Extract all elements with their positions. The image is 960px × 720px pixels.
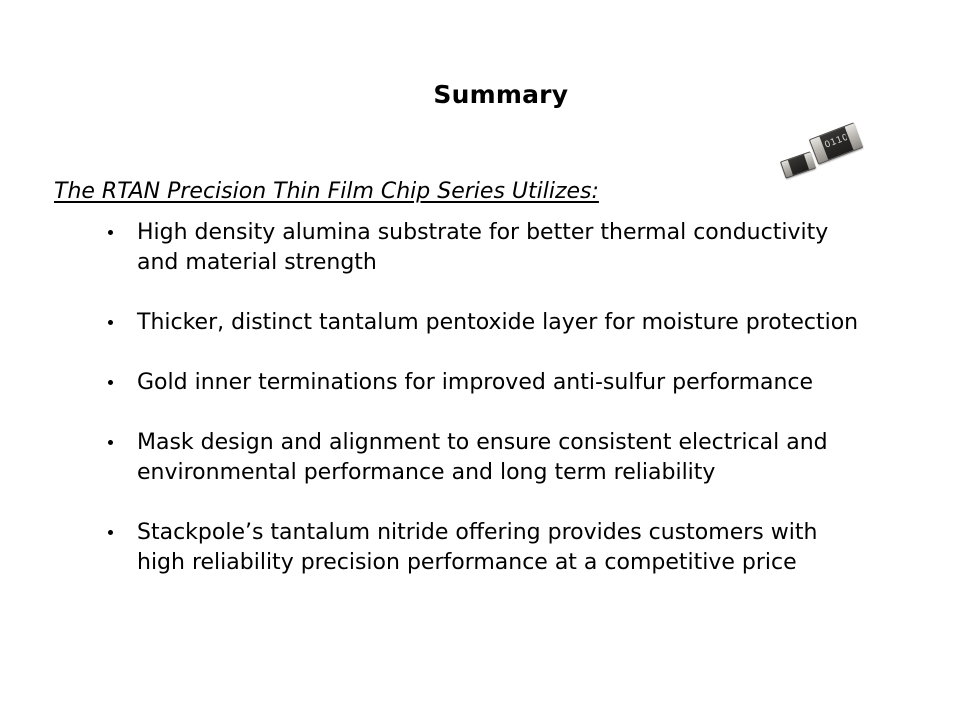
bullet-dot-icon: [108, 230, 113, 235]
list-item: Stackpole’s tantalum nitride offering pr…: [52, 518, 932, 578]
list-item: High density alumina substrate for bette…: [52, 218, 932, 278]
bullet-dot-icon: [108, 440, 113, 445]
lead-in-line: The RTAN Precision Thin Film Chip Series…: [52, 178, 932, 206]
bullet-dot-icon: [108, 530, 113, 535]
chip-resistor-large: 0110: [809, 122, 863, 164]
list-item: Mask design and alignment to ensure cons…: [52, 428, 932, 488]
slide-canvas: Summary 0110 The RTAN Precision Thin Fil…: [0, 0, 960, 720]
bullet-list: High density alumina substrate for bette…: [52, 218, 932, 578]
chip-termination-right: [844, 123, 862, 150]
chip-termination-left: [781, 160, 793, 177]
chip-termination-right: [803, 152, 815, 169]
lead-in-text: The RTAN Precision Thin Film Chip Series…: [52, 178, 601, 206]
body-content: The RTAN Precision Thin Film Chip Series…: [52, 178, 932, 578]
list-item: Thicker, distinct tantalum pentoxide lay…: [52, 308, 932, 338]
list-item-text: Mask design and alignment to ensure cons…: [137, 428, 932, 488]
chip-resistor-small: [780, 151, 816, 178]
list-item: Gold inner terminations for improved ant…: [52, 368, 932, 398]
bullet-dot-icon: [108, 320, 113, 325]
bullet-dot-icon: [108, 380, 113, 385]
list-item-text: Stackpole’s tantalum nitride offering pr…: [137, 518, 932, 578]
list-item-text: High density alumina substrate for bette…: [137, 218, 932, 278]
list-item-text: Thicker, distinct tantalum pentoxide lay…: [137, 308, 932, 338]
list-item-text: Gold inner terminations for improved ant…: [137, 368, 932, 398]
chip-marking-text: 0110: [823, 133, 848, 152]
page-title-text: Summary: [433, 80, 568, 110]
